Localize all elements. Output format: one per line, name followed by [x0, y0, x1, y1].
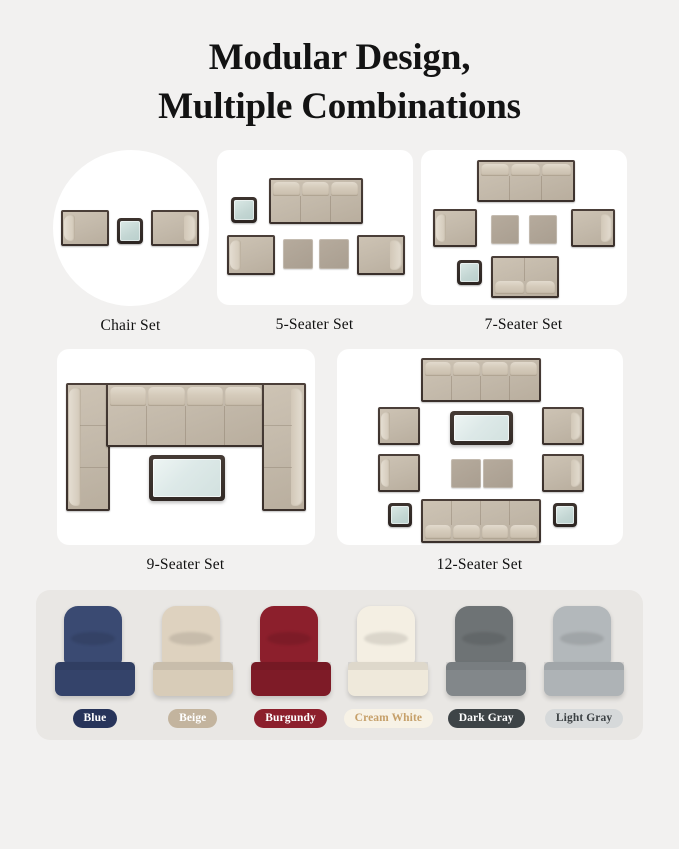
ottoman-2	[319, 239, 349, 269]
back-cushion	[455, 606, 513, 666]
cushion-preview	[53, 606, 137, 702]
ottoman-1	[491, 215, 519, 244]
glass-coffee-table	[450, 411, 513, 445]
cushion-preview	[444, 606, 528, 702]
armchair-right-2	[542, 454, 584, 492]
seat-cushion	[544, 662, 624, 696]
cushion-preview	[249, 606, 333, 702]
armchair-right	[357, 235, 405, 275]
back-cushion	[553, 606, 611, 666]
color-option-beige[interactable]: Beige	[145, 606, 241, 728]
loveseat-2-seat	[491, 256, 559, 298]
sofa-3-seat	[269, 178, 363, 224]
color-option-burgundy[interactable]: Burgundy	[243, 606, 339, 728]
layout-diagram-9-seater-set	[57, 349, 315, 545]
color-label-badge: Burgundy	[254, 709, 327, 728]
side-table-right	[553, 503, 577, 527]
layout-diagram-chair-set	[53, 150, 209, 306]
color-option-dark-gray[interactable]: Dark Gray	[438, 606, 534, 728]
seat-cushion	[153, 662, 233, 696]
cushion-preview	[542, 606, 626, 702]
side-table	[231, 197, 257, 223]
set-row-top: Chair Set	[0, 150, 679, 335]
armchair-right	[151, 210, 199, 246]
sectional-back-run	[106, 383, 266, 447]
seat-cushion	[446, 662, 526, 696]
set-caption: Chair Set	[101, 317, 161, 335]
sectional-left-wing	[66, 383, 110, 511]
armchair-right-1	[542, 407, 584, 445]
set-7-seater-set[interactable]: 7-Seater Set	[421, 150, 627, 335]
color-option-cream-white[interactable]: Cream White	[340, 606, 436, 728]
sofa-3-seat	[477, 160, 575, 202]
back-cushion	[162, 606, 220, 666]
set-card-chair-set[interactable]	[53, 150, 209, 306]
armchair-left-2	[378, 454, 420, 492]
color-label-badge: Cream White	[344, 709, 433, 728]
color-label-badge: Beige	[168, 709, 217, 728]
color-label-badge: Light Gray	[545, 709, 623, 728]
back-cushion	[357, 606, 415, 666]
set-card-5-seater-set[interactable]	[217, 150, 413, 305]
set-5-seater-set[interactable]: 5-Seater Set	[217, 150, 413, 335]
back-cushion	[260, 606, 318, 666]
set-card-12-seater-set[interactable]	[337, 349, 623, 545]
title-line-1: Modular Design,	[209, 37, 471, 78]
side-table-left	[388, 503, 412, 527]
set-caption: 12-Seater Set	[437, 556, 523, 574]
ottoman-2	[529, 215, 557, 244]
sectional-right-wing	[262, 383, 306, 511]
ottoman-2	[483, 459, 513, 488]
set-caption: 9-Seater Set	[147, 556, 225, 574]
glass-coffee-table	[149, 455, 225, 501]
set-row-bottom: 9-Seater Set	[0, 349, 679, 574]
back-cushion	[64, 606, 122, 666]
color-option-blue[interactable]: Blue	[47, 606, 143, 728]
color-label-badge: Dark Gray	[448, 709, 525, 728]
layout-diagram-5-seater-set	[217, 150, 413, 305]
set-caption: 7-Seater Set	[485, 316, 563, 334]
armchair-left	[227, 235, 275, 275]
page-title: Modular Design, Multiple Combinations	[0, 0, 679, 132]
set-chair-set[interactable]: Chair Set	[53, 150, 209, 335]
set-card-9-seater-set[interactable]	[57, 349, 315, 545]
armchair-right	[571, 209, 615, 247]
set-card-7-seater-set[interactable]	[421, 150, 627, 305]
side-table	[117, 218, 143, 244]
set-9-seater-set[interactable]: 9-Seater Set	[57, 349, 315, 574]
armchair-left-1	[378, 407, 420, 445]
set-12-seater-set[interactable]: 12-Seater Set	[337, 349, 623, 574]
seat-cushion	[348, 662, 428, 696]
layout-diagram-7-seater-set	[421, 150, 627, 305]
seat-cushion	[55, 662, 135, 696]
cushion-preview	[151, 606, 235, 702]
ottoman-1	[451, 459, 481, 488]
armchair-left	[61, 210, 109, 246]
side-table	[457, 260, 482, 285]
armchair-left	[433, 209, 477, 247]
layout-diagram-12-seater-set	[337, 349, 623, 545]
sofa-4-seat-top	[421, 358, 541, 402]
color-option-light-gray[interactable]: Light Gray	[536, 606, 632, 728]
color-options-panel: Blue Beige Burgundy Cream White Dark Gra…	[36, 590, 643, 740]
ottoman-1	[283, 239, 313, 269]
color-label-badge: Blue	[73, 709, 118, 728]
title-line-2: Multiple Combinations	[0, 83, 679, 132]
sofa-4-seat-bottom	[421, 499, 541, 543]
seat-cushion	[251, 662, 331, 696]
cushion-preview	[346, 606, 430, 702]
set-caption: 5-Seater Set	[276, 316, 354, 334]
